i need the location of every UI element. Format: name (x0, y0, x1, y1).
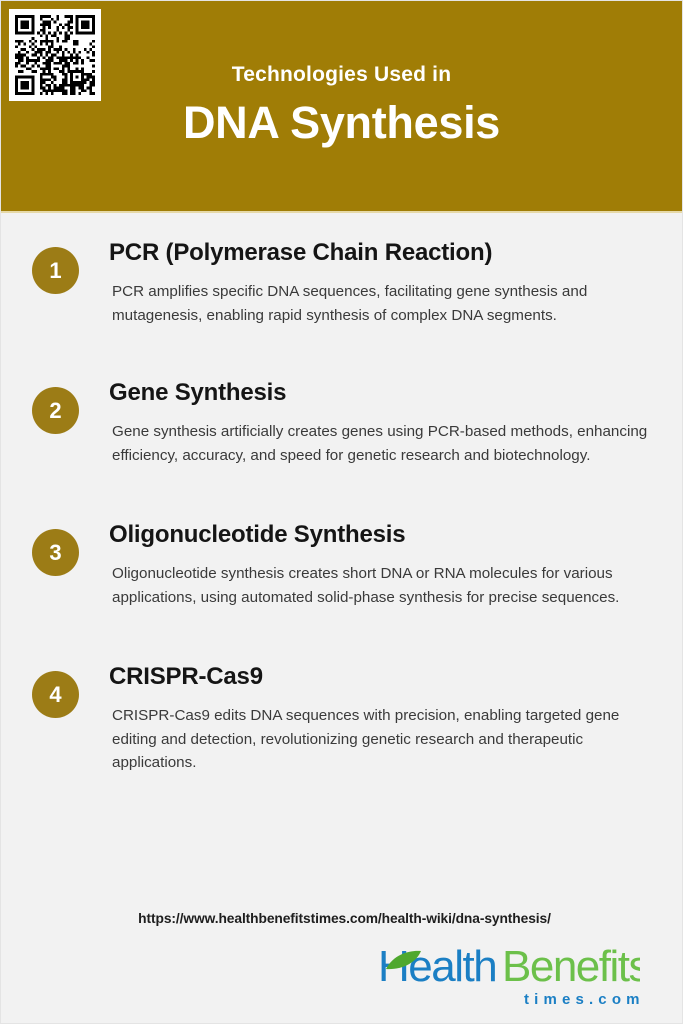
item-body: CRISPR-Cas9 CRISPR-Cas9 edits DNA sequen… (109, 663, 652, 775)
item-number-badge: 2 (32, 387, 79, 434)
item-body: Oligonucleotide Synthesis Oligonucleotid… (109, 521, 652, 609)
header-banner: Technologies Used in DNA Synthesis (1, 1, 682, 213)
brand-logo-artwork: Health Benefits t i m e s . c o m (378, 939, 640, 1009)
list-item: 4 CRISPR-Cas9 CRISPR-Cas9 edits DNA sequ… (1, 663, 682, 783)
brand-logo[interactable]: Health Benefits t i m e s . c o m (378, 939, 640, 1009)
item-title: CRISPR-Cas9 (109, 663, 652, 692)
list-item: 3 Oligonucleotide Synthesis Oligonucleot… (1, 521, 682, 645)
page-title: DNA Synthesis (21, 98, 662, 148)
item-body: Gene Synthesis Gene synthesis artificial… (109, 379, 652, 467)
item-title: Oligonucleotide Synthesis (109, 521, 652, 550)
list-item: 2 Gene Synthesis Gene synthesis artifici… (1, 379, 682, 503)
svg-text:Benefits: Benefits (502, 942, 640, 991)
item-title: PCR (Polymerase Chain Reaction) (109, 239, 652, 268)
item-description: PCR amplifies specific DNA sequences, fa… (112, 280, 652, 327)
technology-list: 1 PCR (Polymerase Chain Reaction) PCR am… (1, 213, 682, 783)
svg-text:t i m e s . c o m: t i m e s . c o m (524, 991, 640, 1008)
item-body: PCR (Polymerase Chain Reaction) PCR ampl… (109, 239, 652, 327)
item-number-badge: 4 (32, 671, 79, 718)
list-item: 1 PCR (Polymerase Chain Reaction) PCR am… (1, 239, 682, 361)
item-description: Gene synthesis artificially creates gene… (112, 420, 652, 467)
footer: https://www.healthbenefitstimes.com/heal… (1, 899, 682, 1023)
header-kicker: Technologies Used in (21, 63, 662, 86)
item-description: CRISPR-Cas9 edits DNA sequences with pre… (112, 704, 652, 775)
header-text-block: Technologies Used in DNA Synthesis (1, 63, 682, 148)
item-title: Gene Synthesis (109, 379, 652, 408)
source-url-link[interactable]: https://www.healthbenefitstimes.com/heal… (1, 911, 682, 926)
item-description: Oligonucleotide synthesis creates short … (112, 562, 652, 609)
item-number-badge: 1 (32, 247, 79, 294)
item-number-badge: 3 (32, 529, 79, 576)
infographic-page: Technologies Used in DNA Synthesis 1 PCR… (0, 0, 683, 1024)
